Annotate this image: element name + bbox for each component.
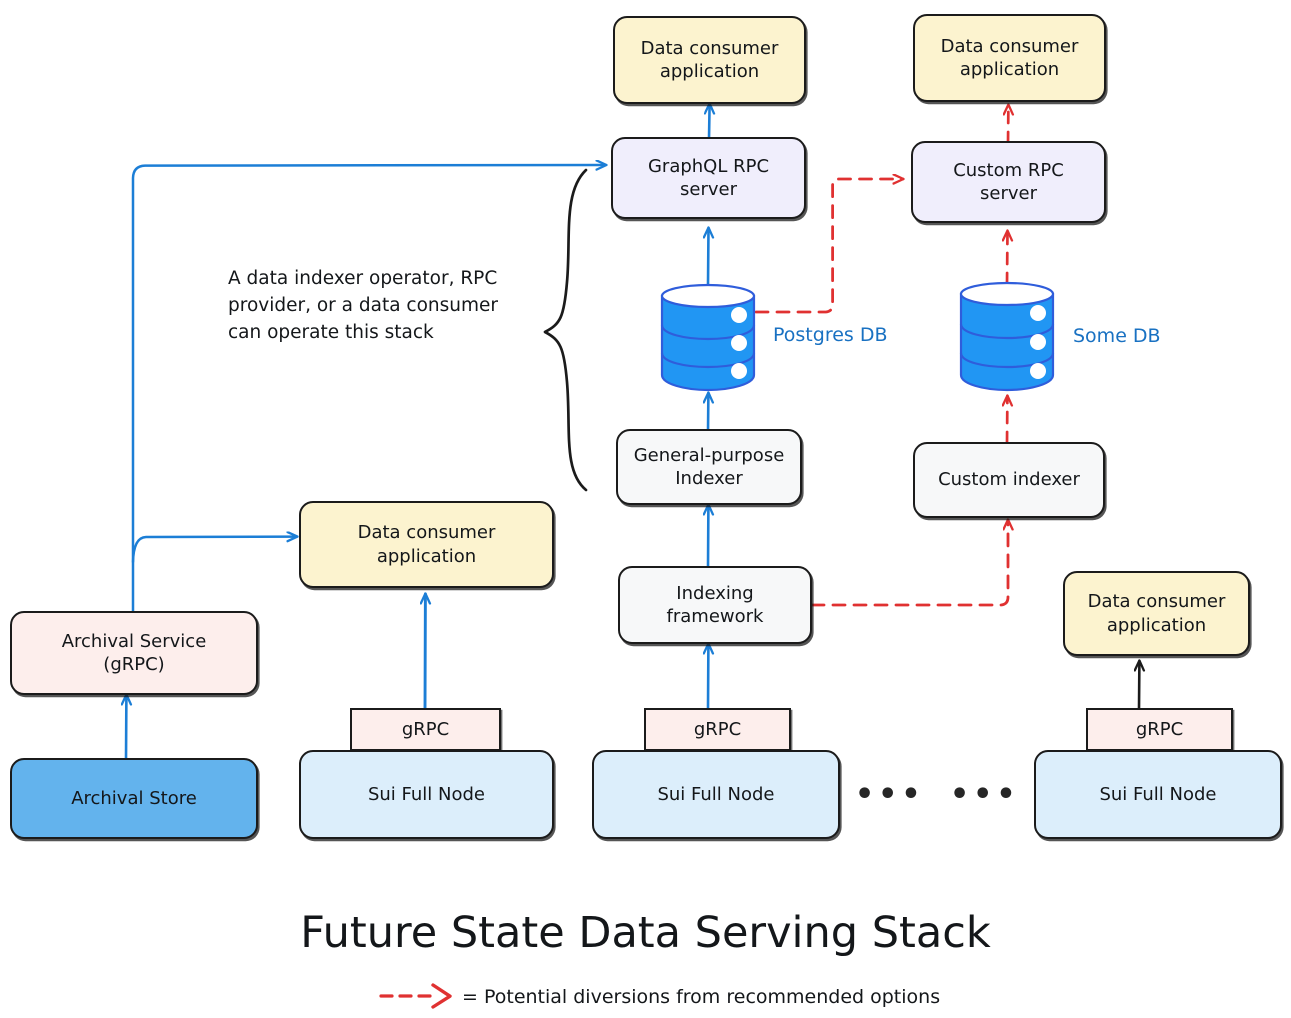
label-postgres-db: Postgres DB xyxy=(773,324,888,346)
diagram-canvas: Data consumer application Data consumer … xyxy=(0,0,1291,1018)
node-label: Data consumer application xyxy=(641,37,779,83)
node-label: GraphQL RPC server xyxy=(648,155,769,201)
node-archival-store[interactable]: Archival Store xyxy=(10,758,258,839)
node-grpc-1[interactable]: gRPC xyxy=(350,708,501,751)
node-general-purpose-indexer[interactable]: General-purpose Indexer xyxy=(616,429,802,505)
node-label: Archival Store xyxy=(71,787,197,810)
annotation-stack-operator: A data indexer operator, RPC provider, o… xyxy=(228,266,518,346)
node-label: gRPC xyxy=(1136,718,1183,741)
node-archival-service-grpc[interactable]: Archival Service (gRPC) xyxy=(10,611,258,695)
ellipsis-left: ••• xyxy=(855,780,925,810)
node-label: Sui Full Node xyxy=(368,783,485,806)
node-label: Custom indexer xyxy=(938,468,1080,491)
curly-brace xyxy=(545,170,586,490)
node-label: Archival Service (gRPC) xyxy=(62,630,207,676)
node-label: gRPC xyxy=(402,718,449,741)
database-some-db[interactable] xyxy=(954,276,1060,394)
node-data-consumer-application-custom[interactable]: Data consumer application xyxy=(913,14,1106,102)
page-title: Future State Data Serving Stack xyxy=(0,908,1291,958)
node-label: gRPC xyxy=(694,718,741,741)
label-some-db: Some DB xyxy=(1073,325,1161,347)
node-custom-indexer[interactable]: Custom indexer xyxy=(913,442,1105,518)
node-label: Data consumer application xyxy=(358,521,496,567)
node-custom-rpc-server[interactable]: Custom RPC server xyxy=(911,141,1106,223)
node-label: Data consumer application xyxy=(1088,590,1226,636)
arrow-graphql-to-consumer xyxy=(709,104,710,139)
legend-label: = Potential diversions from recommended … xyxy=(462,986,940,1008)
node-grpc-2[interactable]: gRPC xyxy=(644,708,791,751)
database-postgres[interactable] xyxy=(655,278,761,393)
arrow-postgresdb-to-graphql xyxy=(708,228,709,285)
node-data-consumer-application-left[interactable]: Data consumer application xyxy=(299,501,554,588)
legend-arrow-head xyxy=(433,985,450,1007)
ellipsis-right: ••• xyxy=(950,780,1020,810)
node-label: Sui Full Node xyxy=(657,783,774,806)
node-label: Indexing framework xyxy=(667,582,764,628)
node-grpc-3[interactable]: gRPC xyxy=(1086,708,1233,751)
node-label: General-purpose Indexer xyxy=(634,444,785,490)
node-data-consumer-application-graphql[interactable]: Data consumer application xyxy=(613,16,806,104)
node-data-consumer-application-right[interactable]: Data consumer application xyxy=(1063,571,1250,656)
arrow-framework-to-custom-indexer xyxy=(812,520,1008,605)
node-indexing-framework[interactable]: Indexing framework xyxy=(618,566,812,644)
node-label: Custom RPC server xyxy=(953,159,1064,205)
node-sui-full-node-2[interactable]: Sui Full Node xyxy=(592,750,840,839)
node-label: Data consumer application xyxy=(941,35,1079,81)
node-label: Sui Full Node xyxy=(1099,783,1216,806)
arrow-archival-to-consumer-left xyxy=(133,537,297,562)
node-sui-full-node-3[interactable]: Sui Full Node xyxy=(1034,750,1282,839)
node-graphql-rpc-server[interactable]: GraphQL RPC server xyxy=(611,137,806,219)
node-sui-full-node-1[interactable]: Sui Full Node xyxy=(299,750,554,839)
